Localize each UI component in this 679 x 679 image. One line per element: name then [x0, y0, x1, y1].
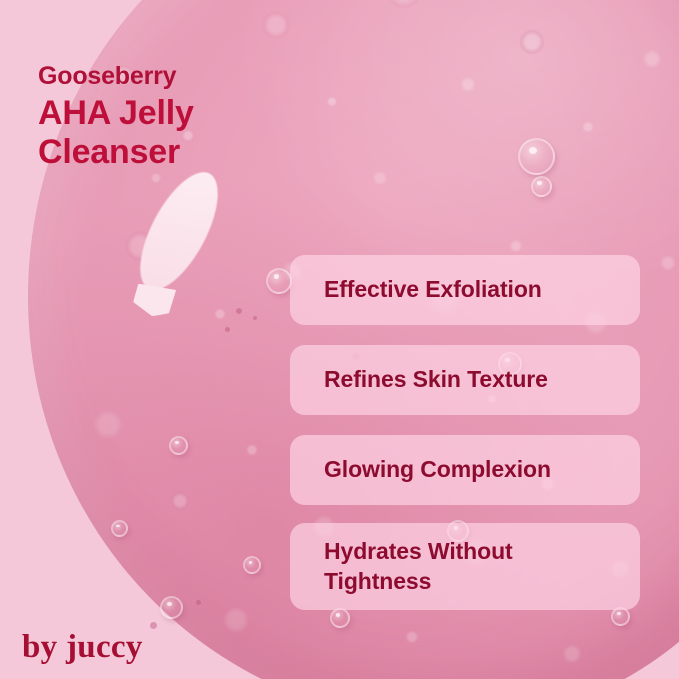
feature-pill-refines-skin-texture: Refines Skin Texture	[290, 345, 640, 415]
gel-speck	[253, 316, 257, 320]
feature-pill-label: Effective Exfoliation	[324, 275, 542, 304]
feature-pill-effective-exfoliation: Effective Exfoliation	[290, 255, 640, 325]
gel-speck	[196, 600, 201, 605]
bubble-ring	[330, 608, 350, 628]
bubble-ring	[169, 436, 188, 455]
feature-pill-label: Glowing Complexion	[324, 455, 551, 484]
feature-pill-label: Hydrates Without Tightness	[324, 537, 606, 596]
product-name-line-2: Cleanser	[38, 133, 338, 172]
bubble-ring	[111, 520, 128, 537]
bubble-ring	[518, 138, 555, 175]
feature-pill-label: Refines Skin Texture	[324, 365, 548, 394]
product-marketing-image: Gooseberry AHA Jelly Cleanser Effective …	[0, 0, 679, 679]
bubble-ring	[531, 176, 552, 197]
gel-speck	[236, 308, 242, 314]
product-line-label: Gooseberry	[38, 62, 338, 91]
feature-pill-glowing-complexion: Glowing Complexion	[290, 435, 640, 505]
gel-speck	[225, 327, 230, 332]
product-name-line-1: AHA Jelly	[38, 94, 338, 133]
feature-pill-hydrates-without-tightness: Hydrates Without Tightness	[290, 523, 640, 610]
page-title: Gooseberry AHA Jelly Cleanser	[38, 62, 338, 173]
bubble-ring	[266, 268, 292, 294]
bubble-ring	[243, 556, 261, 574]
bubble-ring	[160, 596, 183, 619]
brand-logo: by juccy	[22, 629, 143, 666]
gel-speck	[150, 622, 157, 629]
